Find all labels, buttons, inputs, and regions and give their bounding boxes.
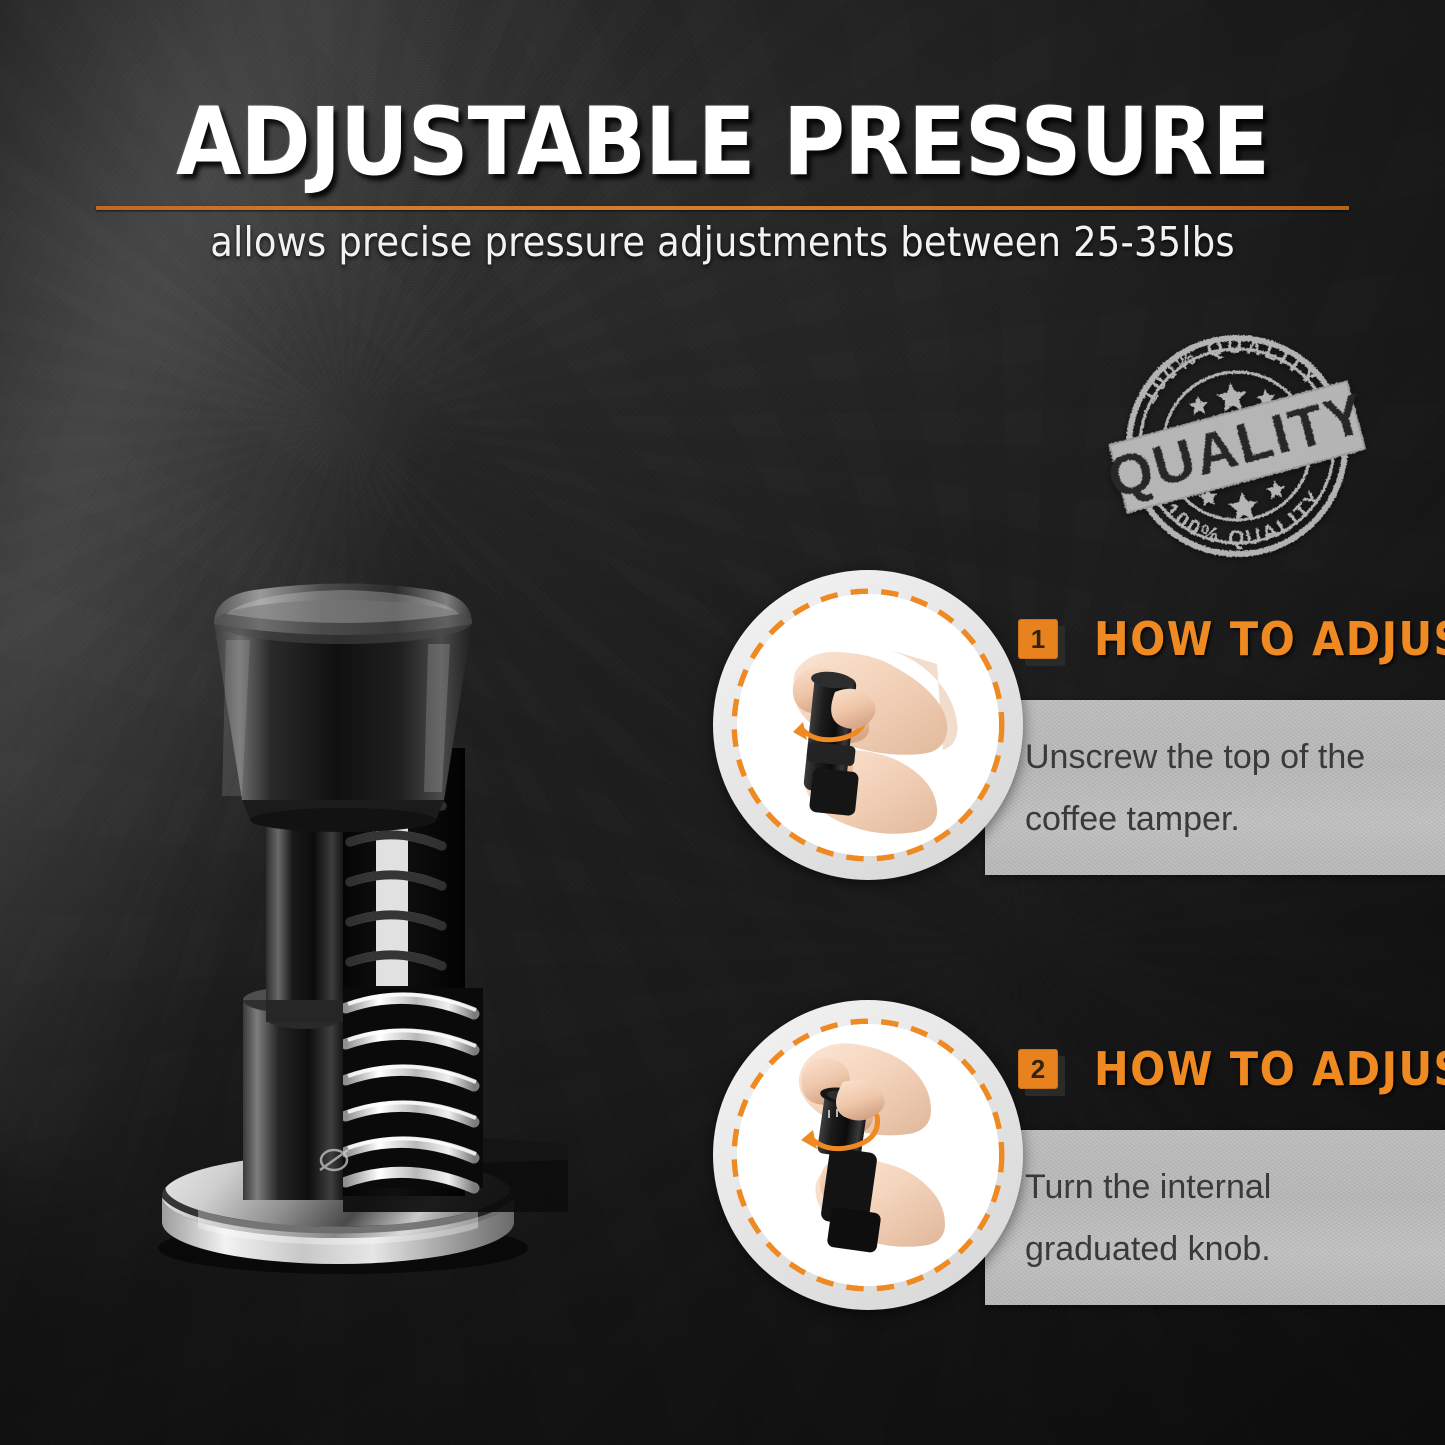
badge-number: 1 (1018, 619, 1058, 659)
step-2-text-line-2: graduated knob. (1025, 1218, 1445, 1280)
step-1-text-panel: Unscrew the top of the coffee tamper. (985, 700, 1445, 875)
step-1-heading: 1 HOW TO ADJUST (1018, 612, 1445, 666)
header: ADJUSTABLE PRESSURE allows precise press… (0, 0, 1445, 266)
infographic-canvas: ADJUSTABLE PRESSURE allows precise press… (0, 0, 1445, 1445)
step-block-1: Unscrew the top of the coffee tamper. 1 … (0, 560, 1445, 890)
step-2-text-panel: Turn the internal graduated knob. (985, 1130, 1445, 1305)
step-1-photo-unscrew-top (737, 594, 999, 856)
step-1-photo-circle (713, 570, 1023, 880)
step-1-text-line-2: coffee tamper. (1025, 788, 1445, 850)
step-1-number-badge: 1 (1018, 619, 1058, 659)
step-1-title: HOW TO ADJUST (1094, 612, 1445, 666)
step-2-photo-turn-knob (737, 1024, 999, 1286)
step-2-photo-circle (713, 1000, 1023, 1310)
step-1-text-line-1: Unscrew the top of the (1025, 726, 1445, 788)
step-block-2: Turn the internal graduated knob. 2 HOW … (0, 990, 1445, 1320)
step-2-number-badge: 2 (1018, 1049, 1058, 1089)
page-title: ADJUSTABLE PRESSURE (0, 0, 1445, 190)
quality-stamp: 100% QUALITY 100% QUALITY QUALITY (1097, 317, 1378, 575)
step-1-text: Unscrew the top of the coffee tamper. (1025, 726, 1445, 850)
step-2-heading: 2 HOW TO ADJUST (1018, 1042, 1445, 1096)
title-divider (96, 206, 1349, 210)
step-2-text-line-1: Turn the internal (1025, 1156, 1445, 1218)
step-2-text: Turn the internal graduated knob. (1025, 1156, 1445, 1280)
page-subtitle: allows precise pressure adjustments betw… (0, 190, 1445, 266)
badge-number: 2 (1018, 1049, 1058, 1089)
step-2-title: HOW TO ADJUST (1094, 1042, 1445, 1096)
